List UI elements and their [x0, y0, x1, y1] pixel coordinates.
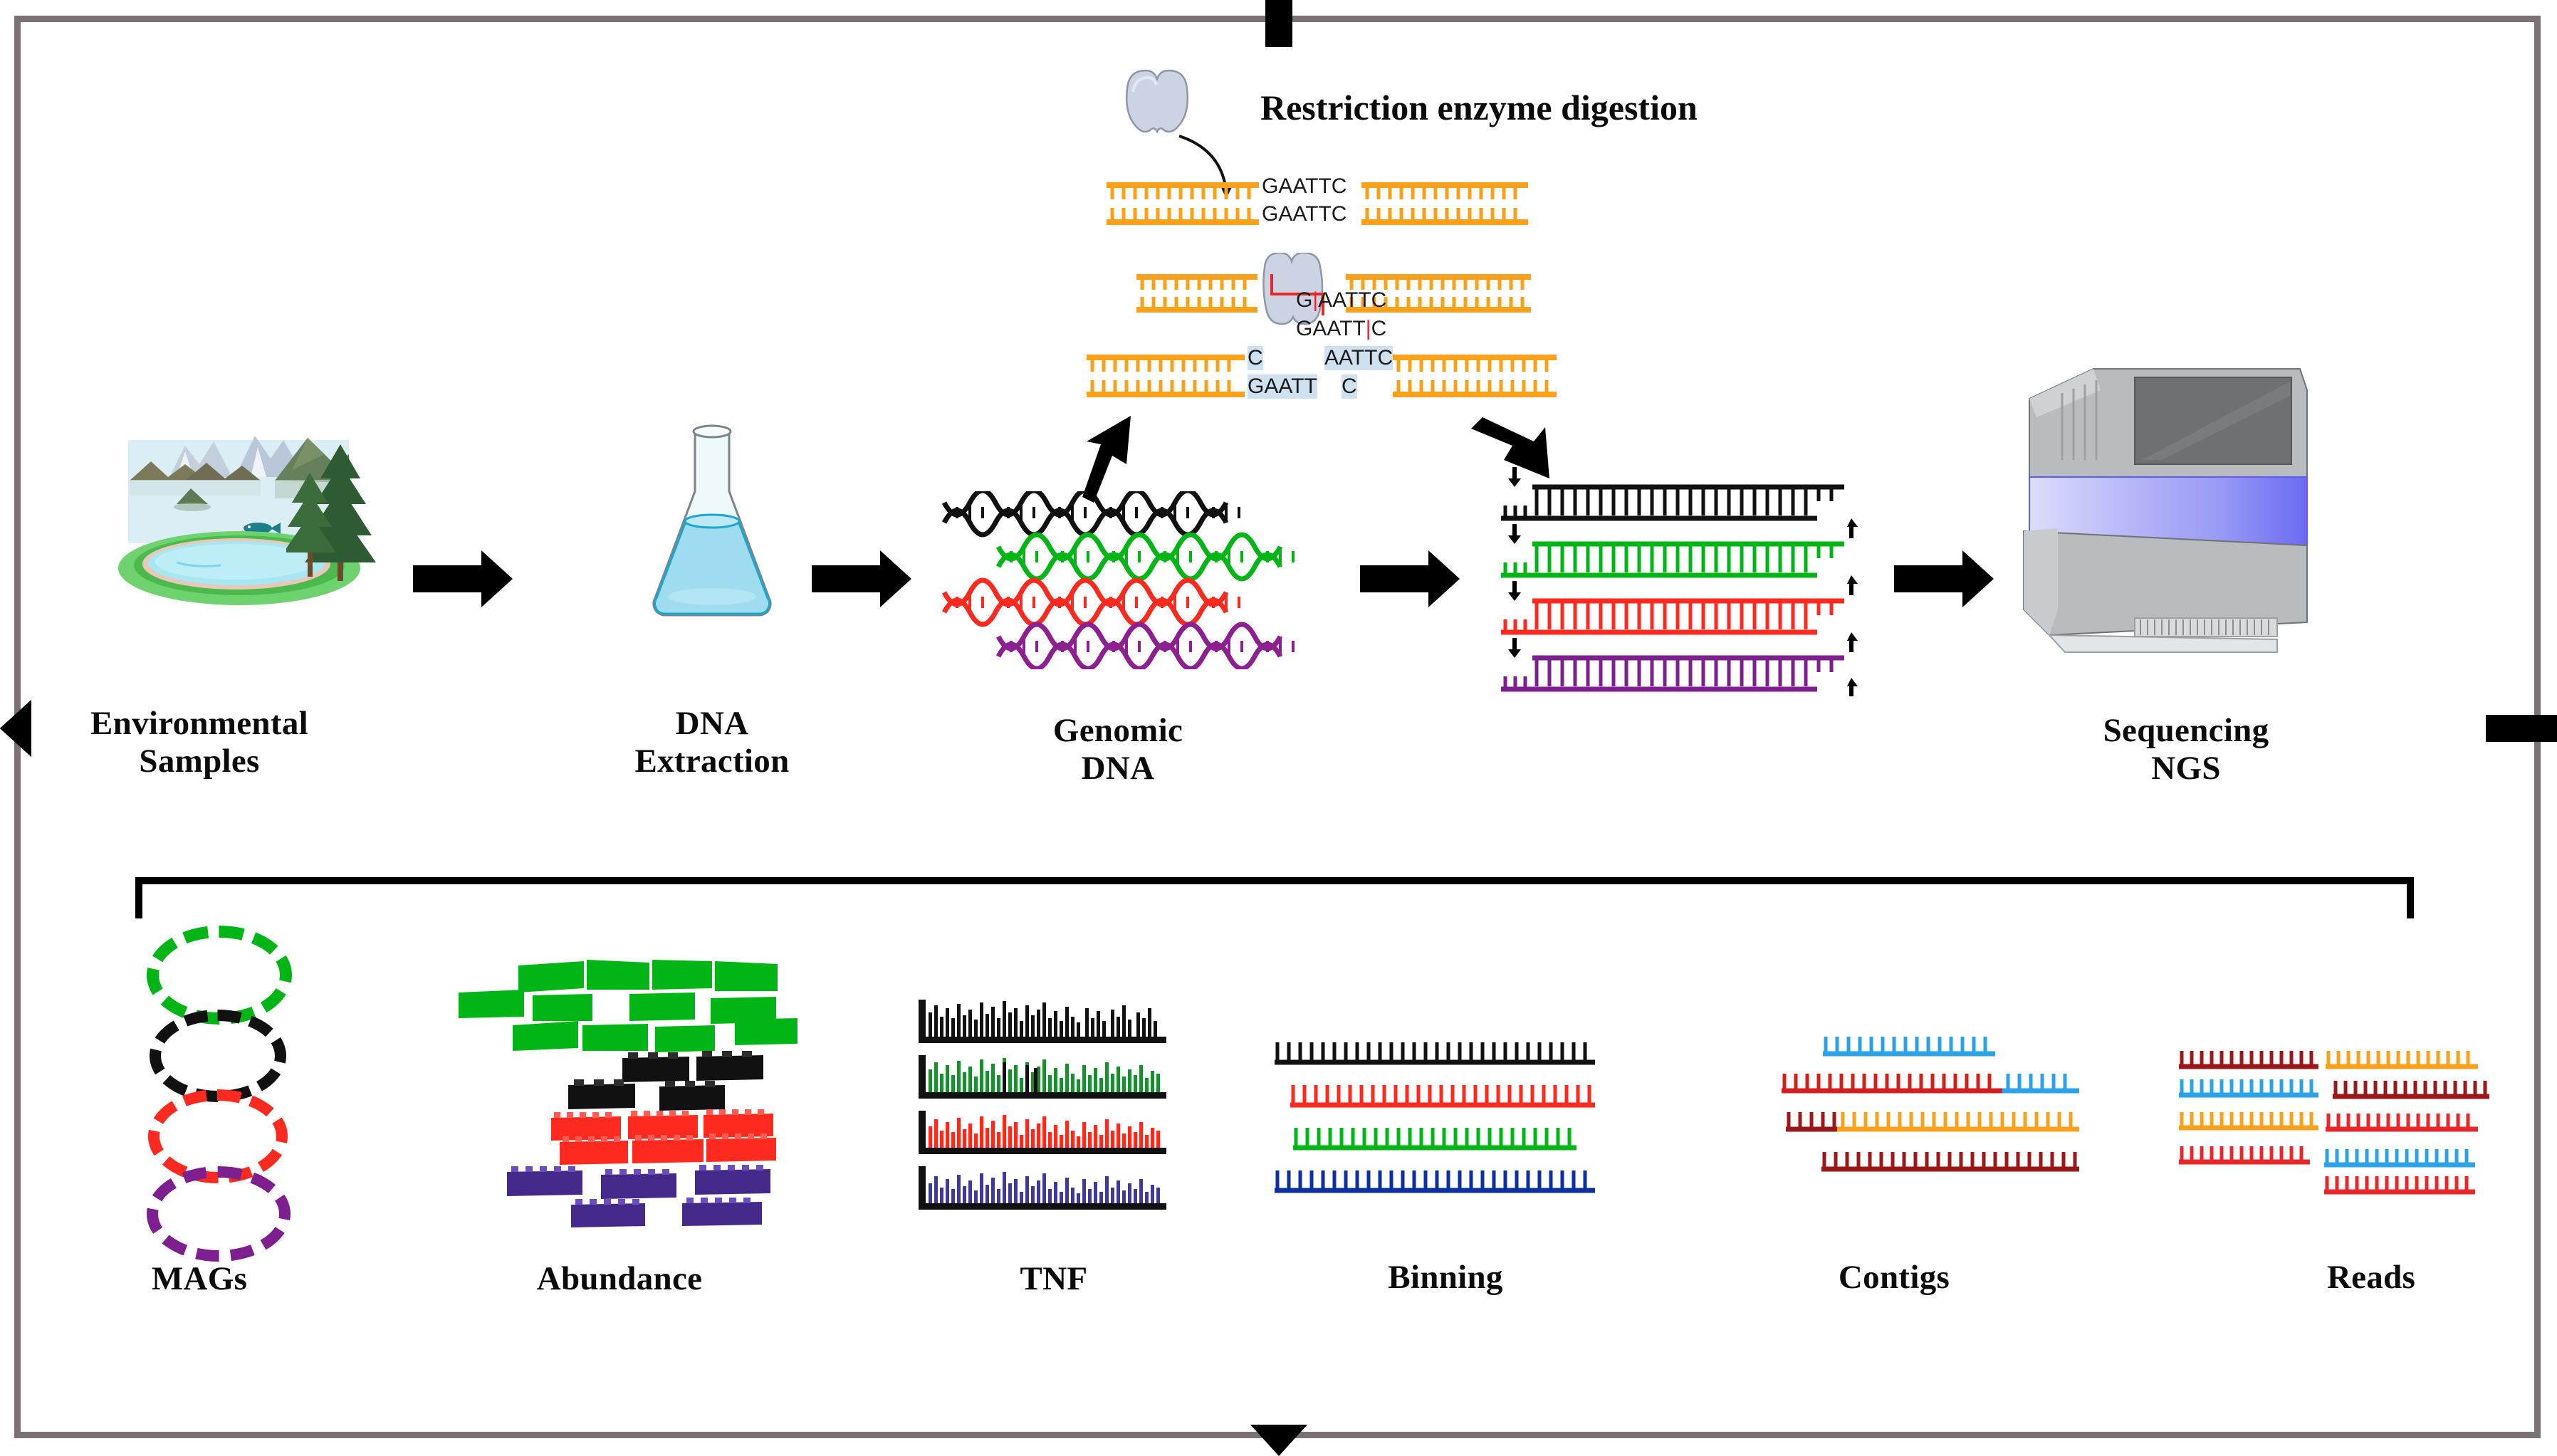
- assembled-contigs-icon: [1745, 1025, 2079, 1225]
- ngs-label-line1: Sequencing: [2065, 712, 2307, 750]
- tnf-group: [919, 997, 1189, 1232]
- mag-ring-black: [150, 1010, 286, 1102]
- extraction-label-line2: Extraction: [591, 743, 833, 780]
- abundance-label: Abundance: [498, 1260, 741, 1298]
- product-right-bottom-text: C: [1342, 375, 1357, 399]
- bracket-left-stub: [135, 877, 142, 918]
- dna-double-helix-icon: [940, 491, 1296, 669]
- bound-bottom-left: GAATT: [1296, 317, 1366, 340]
- binning-label: Binning: [1332, 1259, 1559, 1297]
- reads-group: [2179, 1025, 2506, 1225]
- digestion-product-left: C GAATT: [1082, 349, 1317, 404]
- reads-label: Reads: [2257, 1259, 2485, 1297]
- dna-extraction-flask: [627, 420, 798, 627]
- fragmented-dna-group: [1495, 463, 1866, 698]
- tnf-label: TNF: [947, 1260, 1161, 1298]
- binned-contigs-icon: [1275, 1018, 1609, 1225]
- binning-group: [1275, 1018, 1609, 1225]
- mag-ring-purple: [147, 1166, 291, 1262]
- bound-bottom-right: C: [1371, 317, 1387, 340]
- mags-label: MAGs: [93, 1260, 306, 1298]
- abundance-group: [441, 926, 798, 1232]
- contigs-group: [1745, 1025, 2079, 1225]
- contigs-label: Contigs: [1780, 1259, 2008, 1297]
- recognition-site-bottom-text: GAATTC: [1262, 202, 1347, 226]
- sequencing-reads-icon: [2179, 1025, 2506, 1225]
- digestion-product-right: AATTC C: [1324, 349, 1567, 404]
- restriction-enzyme-title: Restriction enzyme digestion: [1260, 87, 1698, 128]
- product-right-top-text: AATTC: [1324, 346, 1393, 370]
- product-left-bottom-text: GAATT: [1248, 375, 1317, 399]
- ngs-label-line2: NGS: [2065, 750, 2307, 787]
- mags-group: [140, 926, 310, 1232]
- arrow-env-to-extraction: [413, 548, 513, 609]
- genomic-label-line2: DNA: [997, 750, 1239, 787]
- pine-trees-icon: [286, 440, 385, 582]
- bracket-right-stub: [2407, 877, 2414, 918]
- pipeline-bracket: [135, 877, 2414, 920]
- genomic-dna-group: [940, 491, 1296, 669]
- figure-canvas: Environmental Samples DNA Extraction: [0, 0, 2557, 1456]
- genomic-dna-label: Genomic DNA: [997, 712, 1239, 787]
- stacked-bricks-icon: [441, 926, 798, 1232]
- arrow-fragments-to-sequencer: [1894, 548, 1994, 609]
- environmental-samples-label: Environmental Samples: [64, 705, 335, 780]
- extraction-label-line1: DNA: [591, 705, 833, 743]
- arrow-to-digestion-up-left-icon: [1075, 413, 1168, 506]
- enzyme-bound-complex: G|AATTC GAATT|C: [1132, 253, 1574, 338]
- product-left-top-text: C: [1248, 346, 1263, 370]
- erlenmeyer-flask-icon: [627, 420, 798, 627]
- recognition-site-top-text: GAATTC: [1262, 174, 1347, 199]
- bracket-horizontal: [135, 877, 2414, 884]
- genomic-label-line1: Genomic: [997, 712, 1239, 750]
- environmental-samples-illustration: [100, 399, 385, 612]
- ngs-sequencer-icon: [2015, 356, 2321, 669]
- env-label-line1: Environmental: [64, 705, 335, 743]
- sequencing-ngs-label: Sequencing NGS: [2065, 712, 2307, 787]
- restriction-site-strand: GAATTC GAATTC: [1104, 178, 1574, 229]
- arrow-extraction-to-genomic: [812, 548, 911, 609]
- arrow-genomic-to-fragments: [1360, 548, 1460, 609]
- tetranucleotide-frequency-plots-icon: [919, 997, 1189, 1232]
- env-label-line2: Samples: [64, 743, 335, 780]
- dna-extraction-label: DNA Extraction: [591, 705, 833, 780]
